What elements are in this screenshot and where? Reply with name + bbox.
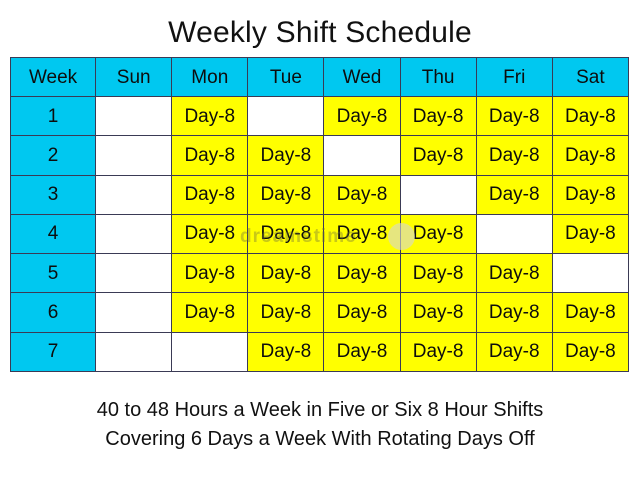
table-row: 4 Day-8 Day-8 Day-8 Day-8 Day-8 — [11, 214, 629, 253]
column-header-wed: Wed — [324, 58, 400, 97]
shift-cell[interactable]: Day-8 — [324, 254, 400, 293]
shift-cell[interactable]: Day-8 — [248, 332, 324, 371]
shift-cell[interactable]: Day-8 — [248, 214, 324, 253]
shift-cell[interactable]: Day-8 — [172, 175, 248, 214]
shift-cell[interactable] — [324, 136, 400, 175]
shift-cell[interactable]: Day-8 — [248, 175, 324, 214]
shift-cell[interactable]: Day-8 — [400, 293, 476, 332]
weekly-shift-table: Week Sun Mon Tue Wed Thu Fri Sat 1 Day-8… — [10, 57, 629, 372]
week-number-cell: 1 — [11, 97, 96, 136]
table-header: Week Sun Mon Tue Wed Thu Fri Sat — [11, 58, 629, 97]
shift-cell[interactable]: Day-8 — [400, 97, 476, 136]
week-number-cell: 2 — [11, 136, 96, 175]
footer-line-1: 40 to 48 Hours a Week in Five or Six 8 H… — [0, 396, 640, 425]
shift-cell[interactable]: Day-8 — [172, 254, 248, 293]
shift-cell[interactable]: Day-8 — [552, 293, 628, 332]
table-row: 7 Day-8 Day-8 Day-8 Day-8 Day-8 — [11, 332, 629, 371]
table-row: 1 Day-8 Day-8 Day-8 Day-8 Day-8 — [11, 97, 629, 136]
table-body: 1 Day-8 Day-8 Day-8 Day-8 Day-8 2 Day-8 … — [11, 97, 629, 372]
shift-cell[interactable]: Day-8 — [552, 214, 628, 253]
table-row: 3 Day-8 Day-8 Day-8 Day-8 Day-8 — [11, 175, 629, 214]
shift-cell[interactable]: Day-8 — [476, 97, 552, 136]
footer-line-2: Covering 6 Days a Week With Rotating Day… — [0, 425, 640, 454]
page-title: Weekly Shift Schedule — [0, 16, 640, 50]
week-number-cell: 5 — [11, 254, 96, 293]
column-header-sun: Sun — [96, 58, 172, 97]
shift-cell[interactable]: Day-8 — [476, 175, 552, 214]
table-row: 5 Day-8 Day-8 Day-8 Day-8 Day-8 — [11, 254, 629, 293]
column-header-thu: Thu — [400, 58, 476, 97]
schedule-page: Weekly Shift Schedule Week Sun Mon Tue W… — [0, 0, 640, 480]
shift-cell[interactable]: Day-8 — [324, 293, 400, 332]
shift-cell[interactable]: Day-8 — [172, 136, 248, 175]
footer-caption: 40 to 48 Hours a Week in Five or Six 8 H… — [0, 396, 640, 454]
shift-cell[interactable] — [96, 175, 172, 214]
shift-cell[interactable] — [96, 214, 172, 253]
shift-cell[interactable]: Day-8 — [552, 175, 628, 214]
table-row: 2 Day-8 Day-8 Day-8 Day-8 Day-8 — [11, 136, 629, 175]
shift-cell[interactable]: Day-8 — [476, 254, 552, 293]
shift-cell[interactable]: Day-8 — [400, 254, 476, 293]
table-row: 6 Day-8 Day-8 Day-8 Day-8 Day-8 Day-8 — [11, 293, 629, 332]
shift-cell[interactable] — [248, 97, 324, 136]
shift-cell[interactable]: Day-8 — [172, 293, 248, 332]
shift-cell[interactable]: Day-8 — [248, 293, 324, 332]
week-number-cell: 7 — [11, 332, 96, 371]
shift-cell[interactable]: Day-8 — [400, 332, 476, 371]
shift-cell[interactable]: Day-8 — [324, 214, 400, 253]
shift-cell[interactable]: Day-8 — [476, 136, 552, 175]
week-number-cell: 6 — [11, 293, 96, 332]
shift-cell[interactable]: Day-8 — [248, 254, 324, 293]
shift-cell[interactable] — [400, 175, 476, 214]
column-header-tue: Tue — [248, 58, 324, 97]
shift-cell[interactable]: Day-8 — [172, 214, 248, 253]
shift-cell[interactable]: Day-8 — [400, 136, 476, 175]
shift-cell[interactable] — [96, 332, 172, 371]
shift-cell[interactable] — [552, 254, 628, 293]
header-row: Week Sun Mon Tue Wed Thu Fri Sat — [11, 58, 629, 97]
week-number-cell: 4 — [11, 214, 96, 253]
shift-cell[interactable] — [96, 97, 172, 136]
shift-cell[interactable]: Day-8 — [476, 293, 552, 332]
shift-cell[interactable] — [96, 254, 172, 293]
column-header-fri: Fri — [476, 58, 552, 97]
shift-cell[interactable]: Day-8 — [248, 136, 324, 175]
shift-cell[interactable]: Day-8 — [324, 97, 400, 136]
column-header-mon: Mon — [172, 58, 248, 97]
shift-cell[interactable]: Day-8 — [172, 97, 248, 136]
shift-cell[interactable]: Day-8 — [552, 332, 628, 371]
shift-cell[interactable]: Day-8 — [324, 332, 400, 371]
shift-cell[interactable] — [96, 136, 172, 175]
shift-cell[interactable] — [476, 214, 552, 253]
week-number-cell: 3 — [11, 175, 96, 214]
shift-cell[interactable]: Day-8 — [324, 175, 400, 214]
shift-cell[interactable] — [96, 293, 172, 332]
shift-cell[interactable]: Day-8 — [400, 214, 476, 253]
shift-cell[interactable]: Day-8 — [552, 97, 628, 136]
shift-cell[interactable]: Day-8 — [476, 332, 552, 371]
shift-cell[interactable]: Day-8 — [552, 136, 628, 175]
column-header-sat: Sat — [552, 58, 628, 97]
column-header-week: Week — [11, 58, 96, 97]
shift-cell[interactable] — [172, 332, 248, 371]
schedule-table-container: Week Sun Mon Tue Wed Thu Fri Sat 1 Day-8… — [10, 57, 629, 372]
